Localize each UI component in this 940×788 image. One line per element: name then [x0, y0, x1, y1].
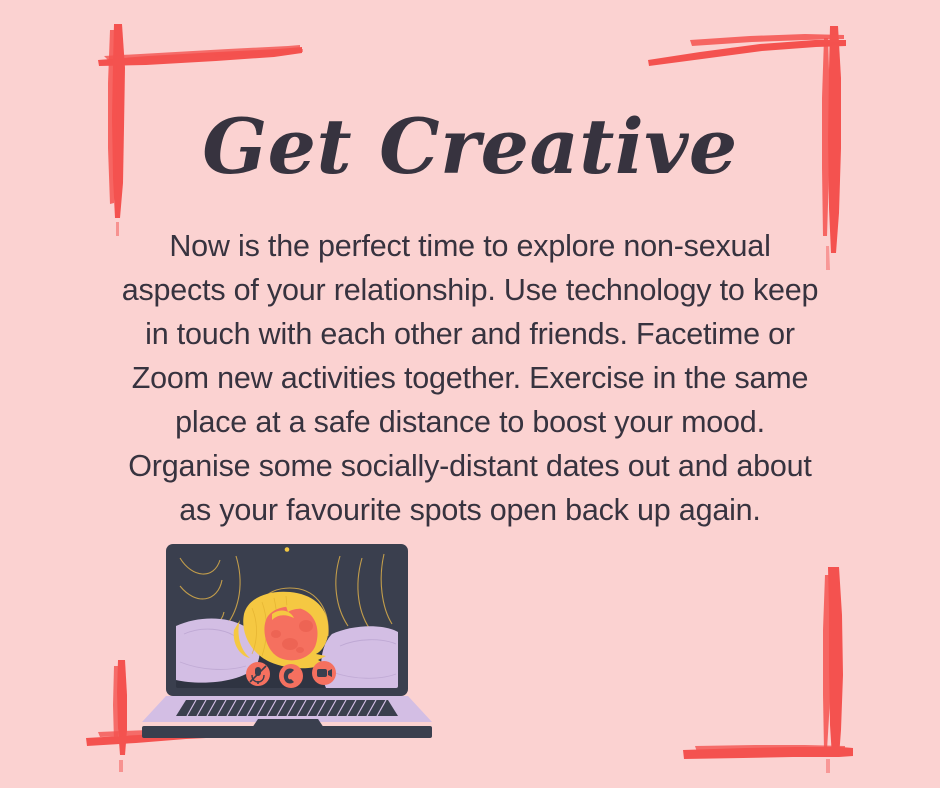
- body-paragraph: Now is the perfect time to explore non-s…: [70, 224, 870, 532]
- body-line: Now is the perfect time to explore non-s…: [70, 224, 870, 268]
- webcam-icon: [285, 547, 290, 552]
- corner-bracket-bottom-right: [655, 545, 905, 775]
- body-line: in touch with each other and friends. Fa…: [70, 312, 870, 356]
- laptop-video-call-illustration: [140, 530, 440, 742]
- laptop-base: [142, 696, 432, 738]
- laptop-front-edge: [142, 726, 432, 738]
- laptop-screen: [176, 553, 398, 688]
- video-toggle-button[interactable]: [312, 661, 336, 685]
- body-line: place at a safe distance to boost your m…: [70, 400, 870, 444]
- body-line: aspects of your relationship. Use techno…: [70, 268, 870, 312]
- body-line: Zoom new activities together. Exercise i…: [70, 356, 870, 400]
- page-title: Get Creative: [0, 104, 940, 190]
- poster-canvas: Get Creative Now is the perfect time to …: [0, 0, 940, 788]
- end-call-button[interactable]: [279, 664, 303, 688]
- body-line: as your favourite spots open back up aga…: [70, 488, 870, 532]
- mute-microphone-button[interactable]: [246, 662, 270, 686]
- call-controls: [246, 661, 336, 688]
- keyboard[interactable]: [176, 700, 398, 716]
- body-line: Organise some socially-distant dates out…: [70, 444, 870, 488]
